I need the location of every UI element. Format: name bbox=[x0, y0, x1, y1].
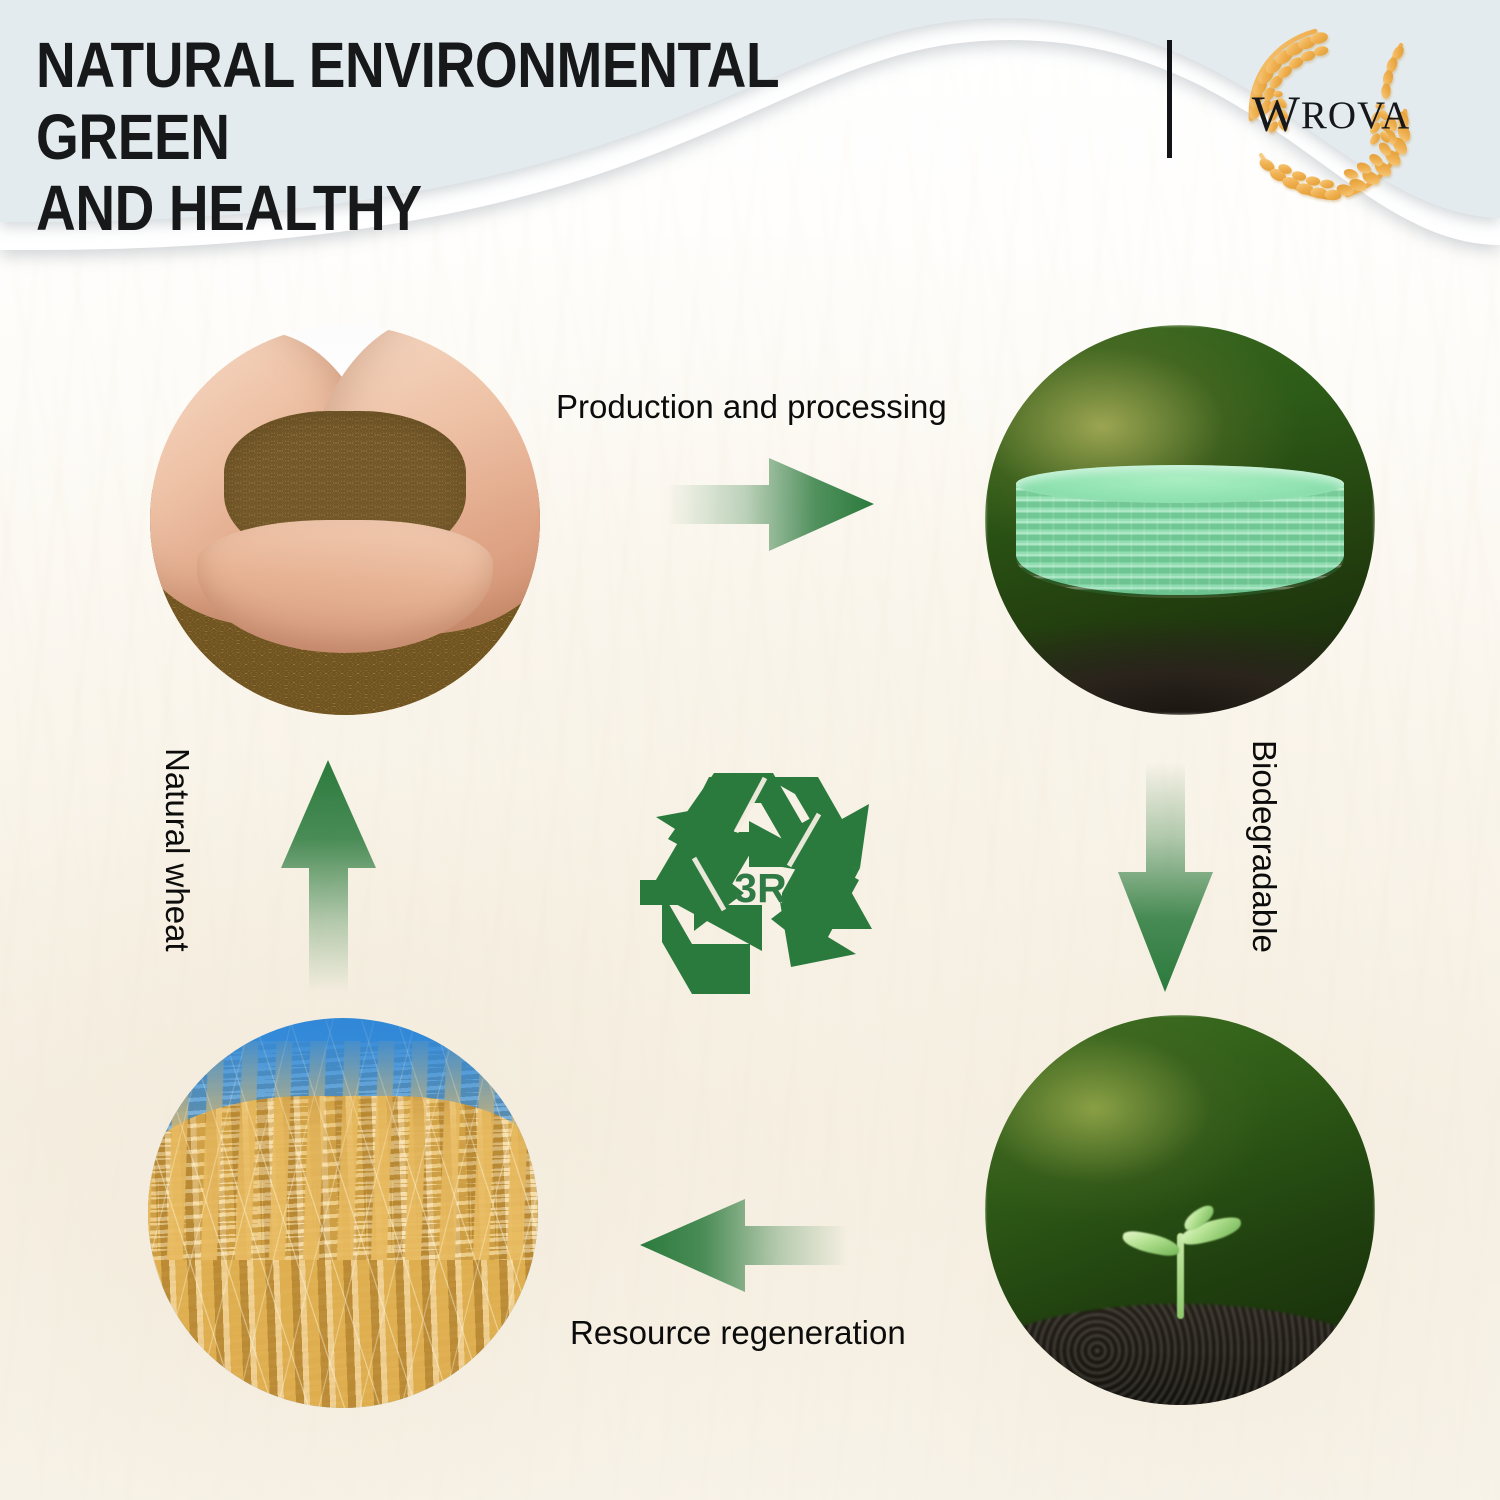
wheat-awns bbox=[148, 1018, 538, 1408]
plate-vertical-ridges bbox=[1016, 491, 1344, 592]
recycle-center-label: 3R bbox=[632, 762, 882, 1010]
brand-logo: WROVA bbox=[1205, 15, 1455, 215]
label-biodegradable: Biodegradable bbox=[1245, 740, 1283, 953]
arrow-down-icon bbox=[1113, 762, 1218, 994]
brand-name-rest: ROVA bbox=[1301, 93, 1410, 138]
photo-wheat-ears bbox=[148, 1018, 538, 1408]
label-natural-wheat: Natural wheat bbox=[158, 748, 196, 952]
plate-top-rim bbox=[1016, 465, 1344, 503]
photo-green-plate-stack bbox=[985, 325, 1375, 715]
label-resource-regeneration: Resource regeneration bbox=[570, 1314, 906, 1352]
arrow-up-icon bbox=[276, 756, 381, 992]
page-title: NATURAL ENVIRONMENTAL GREEN AND HEALTHY bbox=[36, 30, 965, 245]
infographic-page: NATURAL ENVIRONMENTAL GREEN AND HEALTHY bbox=[0, 0, 1500, 1500]
recycle-3r-symbol: 3R bbox=[632, 762, 882, 1010]
header-divider bbox=[1167, 40, 1172, 158]
photo-seedling-sprout bbox=[985, 1015, 1375, 1405]
label-production-and-processing: Production and processing bbox=[556, 388, 947, 426]
photo-hands-holding-grain bbox=[150, 325, 540, 715]
brand-name: WROVA bbox=[1205, 15, 1455, 215]
arrow-right-icon bbox=[666, 452, 876, 557]
brand-name-text: W bbox=[1252, 86, 1301, 144]
plate-stack bbox=[1016, 465, 1344, 609]
arrow-left-icon bbox=[638, 1193, 848, 1298]
